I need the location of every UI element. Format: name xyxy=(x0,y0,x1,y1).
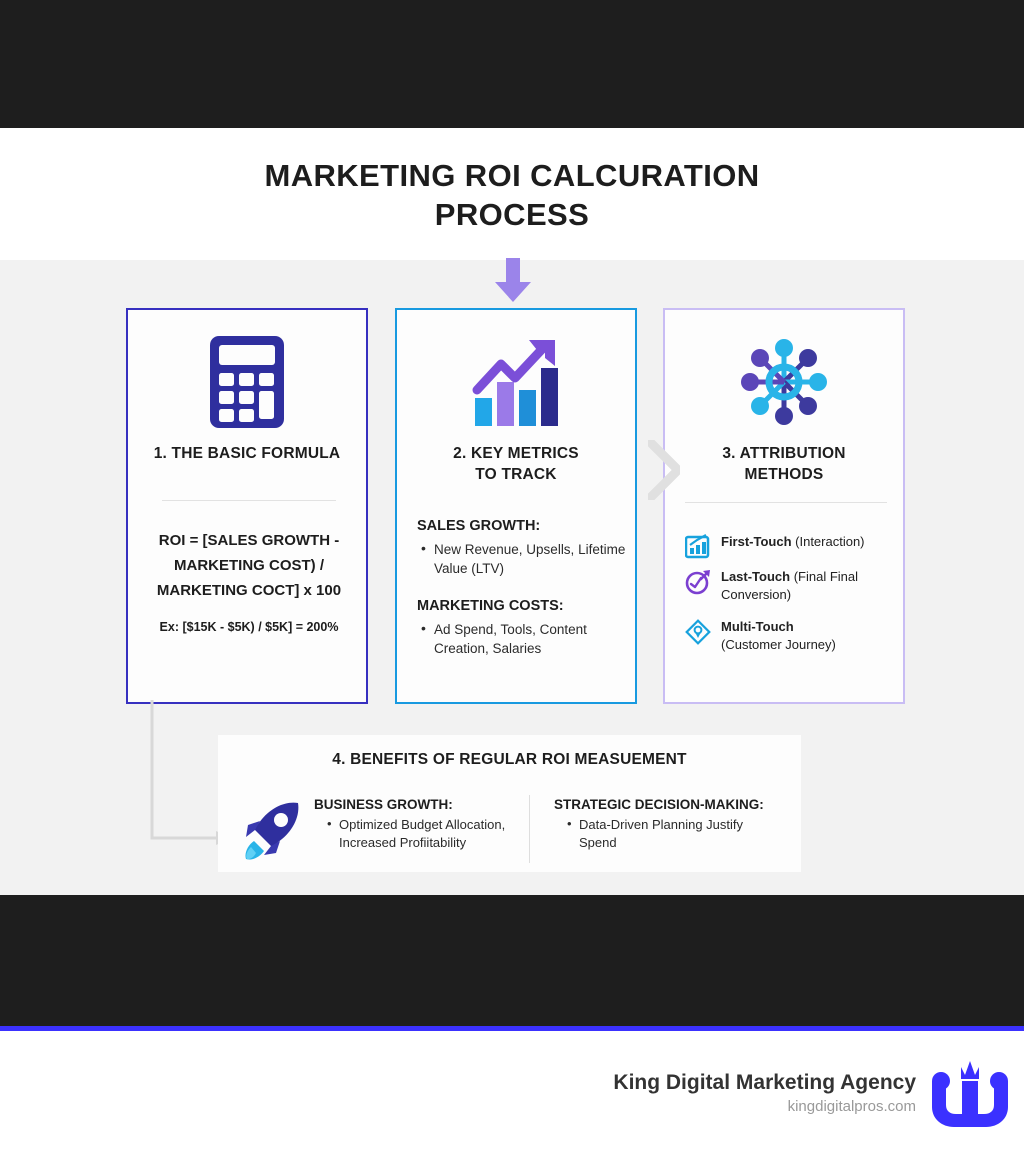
card-key-metrics[interactable]: 2. KEY METRICS TO TRACK SALES GROWTH: Ne… xyxy=(395,308,637,704)
attribution-row-last-touch[interactable]: Last-Touch (Final Final Conversion) xyxy=(685,568,895,603)
attribution-label-first-touch: First-Touch (Interaction) xyxy=(721,533,865,551)
card-benefits[interactable]: 4. BENEFITS OF REGULAR ROI MEASUEMENT BU… xyxy=(218,735,801,872)
marketing-costs-heading: MARKETING COSTS: xyxy=(417,598,564,614)
benefits-list: Optimized Budget Allocation, Increased P… xyxy=(314,816,514,851)
card-attribution-methods[interactable]: 3. ATTRIBUTION METHODS First-Touch (Inte… xyxy=(663,308,905,704)
calculator-icon xyxy=(128,332,366,432)
method-name: Multi-Touch xyxy=(721,619,794,634)
footer-area: King Digital Marketing Agency kingdigita… xyxy=(0,1031,1024,1154)
card2-title-line1: 2. KEY METRICS xyxy=(453,445,579,462)
diamond-pin-icon xyxy=(685,619,711,645)
down-arrow-icon xyxy=(493,258,533,302)
page-title-line2: PROCESS xyxy=(435,197,589,232)
check-circle-arrow-icon xyxy=(685,569,711,595)
brand-url[interactable]: kingdigitalpros.com xyxy=(613,1096,916,1118)
attribution-row-multi-touch[interactable]: Multi-Touch(Customer Journey) xyxy=(685,618,895,653)
bar-chart-arrow-icon xyxy=(685,534,711,560)
card3-title-line2: METHODS xyxy=(745,466,824,483)
benefits-title: 4. BENEFITS OF REGULAR ROI MEASUEMENT xyxy=(218,751,801,769)
benefits-heading: STRATEGIC DECISION-MAKING: xyxy=(554,797,784,812)
page-title-line1: MARKETING ROI CALCURATION xyxy=(264,158,759,193)
rocket-icon xyxy=(238,797,304,863)
sales-growth-list: New Revenue, Upsells, Lifetime Value (LT… xyxy=(421,540,643,578)
card1-divider xyxy=(162,500,336,501)
card2-title: 2. KEY METRICS TO TRACK xyxy=(397,443,635,485)
card1-title: 1. THE BASIC FORMULA xyxy=(128,443,366,464)
card1-title-line1: 1. THE BASIC FORMULA xyxy=(154,445,341,462)
sales-growth-heading: SALES GROWTH: xyxy=(417,518,540,534)
benefits-list: Data-Driven Planning Justify Spend xyxy=(554,816,784,851)
roi-formula: ROI = [SALES GROWTH - MARKETING COST) / … xyxy=(138,528,360,603)
card2-title-line2: TO TRACK xyxy=(475,466,556,483)
growth-chart-icon xyxy=(397,332,635,432)
method-detail: (Interaction) xyxy=(792,534,865,549)
card3-title: 3. ATTRIBUTION METHODS xyxy=(665,443,903,485)
bottom-dark-band xyxy=(0,895,1024,1026)
infographic-page: MARKETING ROI CALCURATION PROCESS xyxy=(0,0,1024,1154)
list-item: New Revenue, Upsells, Lifetime Value (LT… xyxy=(421,540,643,578)
benefits-column-strategic-decision: STRATEGIC DECISION-MAKING: Data-Driven P… xyxy=(554,797,784,851)
roi-formula-example: Ex: [$15K - $5K) / $5K] = 200% xyxy=(136,620,362,634)
top-dark-band xyxy=(0,0,1024,128)
card3-title-line1: 3. ATTRIBUTION xyxy=(722,445,845,462)
brand-name: King Digital Marketing Agency xyxy=(613,1069,916,1096)
benefits-divider xyxy=(529,795,530,863)
list-item: Data-Driven Planning Justify Spend xyxy=(567,816,784,851)
list-item: Optimized Budget Allocation, Increased P… xyxy=(327,816,514,851)
list-item: Ad Spend, Tools, Content Creation, Salar… xyxy=(421,620,643,658)
network-hub-icon xyxy=(665,332,903,432)
benefits-column-business-growth: BUSINESS GROWTH: Optimized Budget Alloca… xyxy=(314,797,514,851)
card3-divider xyxy=(685,502,887,503)
attribution-label-last-touch: Last-Touch (Final Final Conversion) xyxy=(721,568,895,603)
card-basic-formula[interactable]: 1. THE BASIC FORMULA ROI = [SALES GROWTH… xyxy=(126,308,368,704)
king-crown-logo[interactable] xyxy=(932,1055,1008,1131)
benefits-heading: BUSINESS GROWTH: xyxy=(314,797,514,812)
page-title: MARKETING ROI CALCURATION PROCESS xyxy=(0,156,1024,234)
method-name: Last-Touch xyxy=(721,569,790,584)
method-detail: (Customer Journey) xyxy=(721,637,836,652)
attribution-label-multi-touch: Multi-Touch(Customer Journey) xyxy=(721,618,836,653)
method-name: First-Touch xyxy=(721,534,792,549)
attribution-row-first-touch[interactable]: First-Touch (Interaction) xyxy=(685,533,895,560)
title-area: MARKETING ROI CALCURATION PROCESS xyxy=(0,128,1024,260)
chevron-right-icon xyxy=(648,440,680,500)
marketing-costs-list: Ad Spend, Tools, Content Creation, Salar… xyxy=(421,620,643,658)
footer-text: King Digital Marketing Agency kingdigita… xyxy=(613,1069,916,1118)
footer-branding: King Digital Marketing Agency kingdigita… xyxy=(613,1055,1008,1131)
